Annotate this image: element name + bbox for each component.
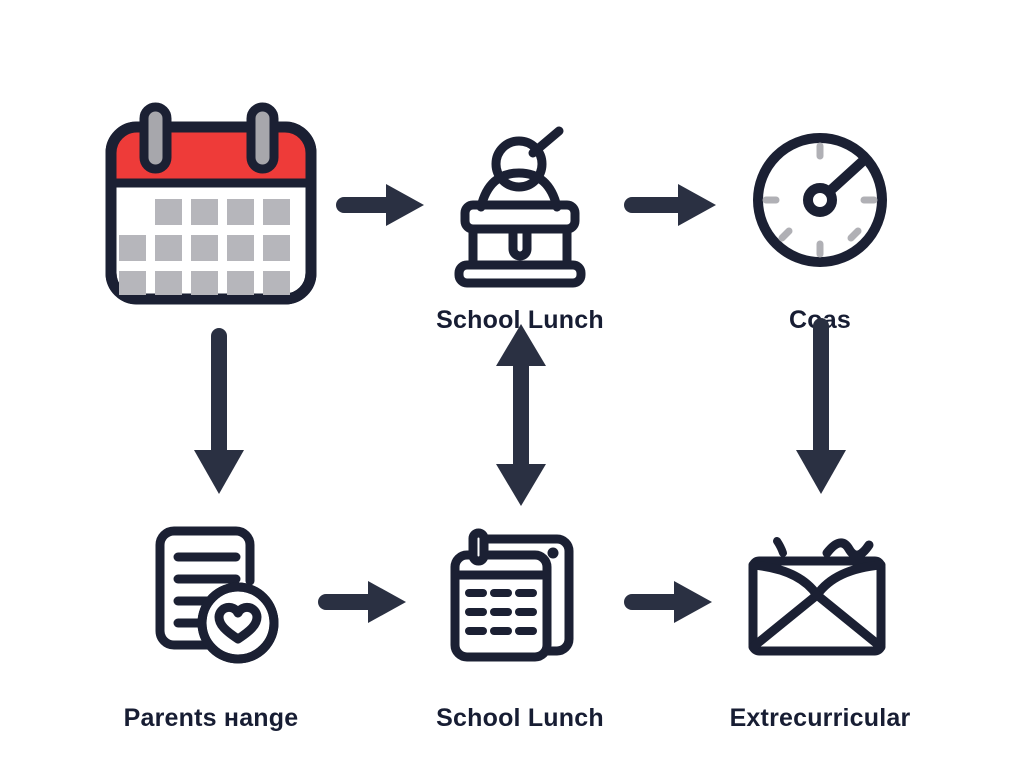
document-heart-icon-box bbox=[96, 498, 326, 698]
gauge-clock-icon-box bbox=[705, 100, 935, 300]
gauge-clock-icon bbox=[740, 120, 900, 280]
calendar-icon-box bbox=[96, 100, 326, 300]
arrow-parents-to-lunch bbox=[318, 575, 410, 629]
stacked-calendar-icon bbox=[435, 513, 605, 683]
arrow-coas-to-extrecurricular bbox=[792, 318, 850, 500]
node-parents-hange-label: Parents нange bbox=[124, 704, 299, 733]
arrow-lunch-top-bottom bbox=[492, 322, 550, 508]
document-heart-icon bbox=[126, 513, 296, 683]
lunch-envelope-steam-icon bbox=[735, 513, 905, 683]
arrow-lunch-to-extrecurricular bbox=[624, 575, 716, 629]
arrow-calendar-to-parents bbox=[190, 328, 248, 500]
stacked-calendar-icon-box bbox=[405, 498, 635, 698]
node-extrecurricular-label: Extrecurricular bbox=[730, 704, 911, 733]
lunch-envelope-steam-icon-box bbox=[705, 498, 935, 698]
node-calendar[interactable] bbox=[96, 100, 326, 306]
arrow-lunch-to-coas bbox=[624, 178, 720, 232]
arrow-calendar-to-lunch bbox=[336, 178, 428, 232]
diagram-canvas: School Lunch Coas bbox=[0, 0, 1024, 768]
node-extrecurricular[interactable]: Extrecurricular bbox=[705, 498, 935, 733]
node-school-lunch-bottom[interactable]: School Lunch bbox=[405, 498, 635, 733]
lunchbox-search-icon-box bbox=[405, 100, 635, 300]
node-school-lunch-bottom-label: School Lunch bbox=[436, 704, 604, 733]
node-coas[interactable]: Coas bbox=[705, 100, 935, 335]
calendar-icon bbox=[99, 95, 324, 305]
lunchbox-search-icon bbox=[435, 115, 605, 285]
node-school-lunch-top[interactable]: School Lunch bbox=[405, 100, 635, 335]
node-parents-hange[interactable]: Parents нange bbox=[96, 498, 326, 733]
